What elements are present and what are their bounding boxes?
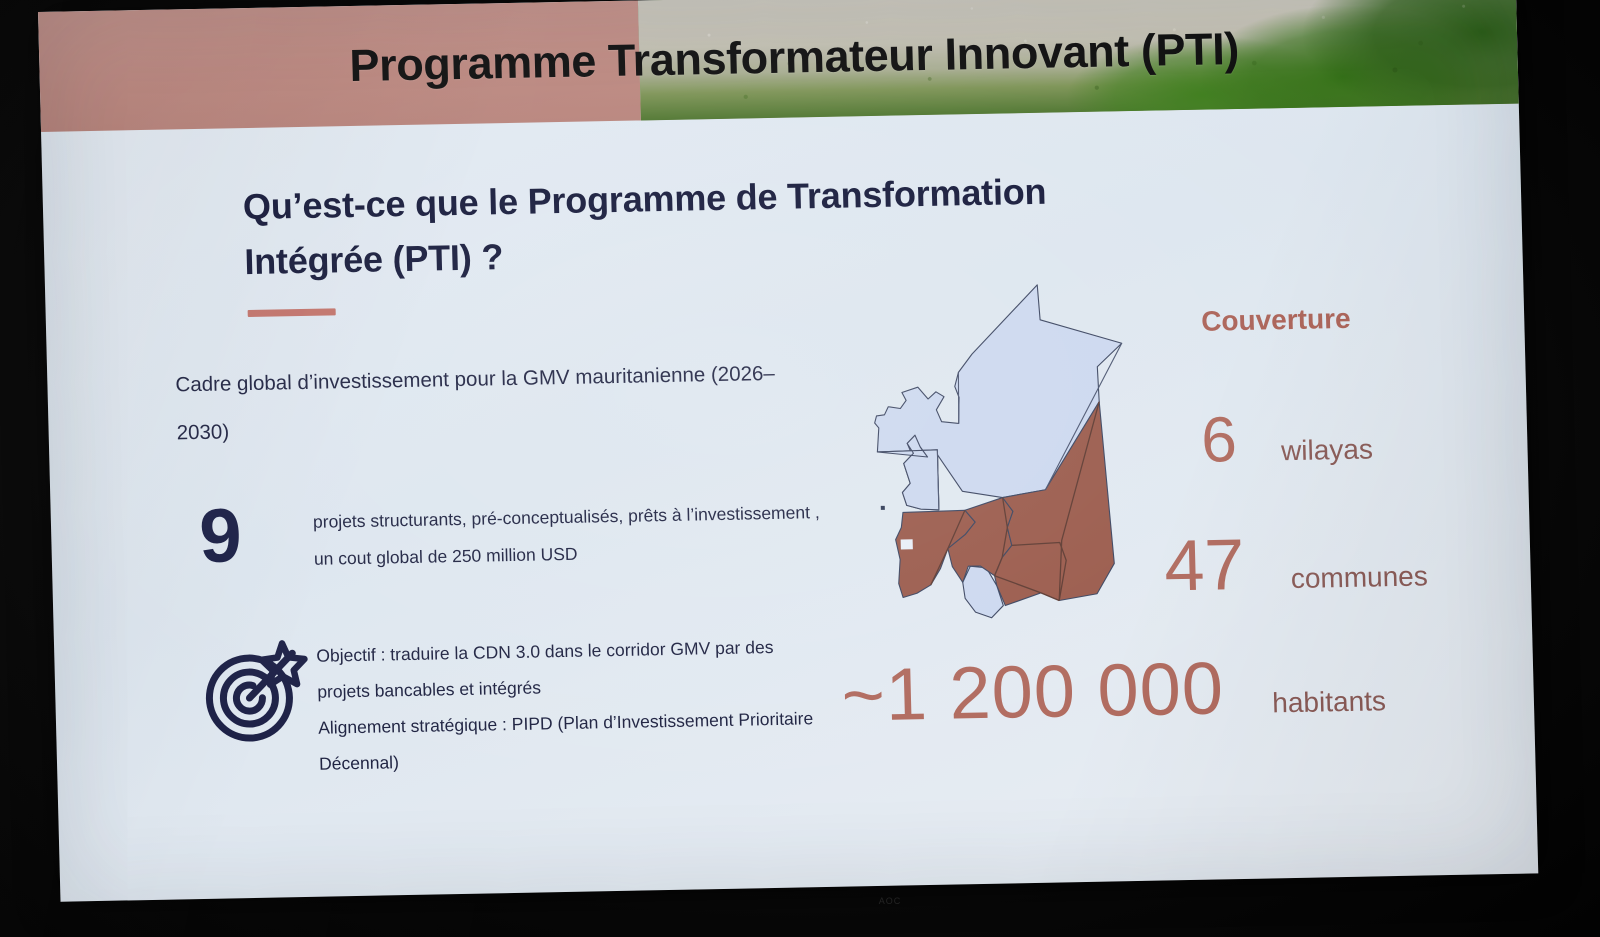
slide-surface: Programme Transformateur Innovant (PTI) …: [38, 0, 1538, 902]
coverage-row-communes: 47 communes: [1163, 525, 1428, 602]
objective-line-1: Objectif : traduire la CDN 3.0 dans le c…: [316, 629, 818, 710]
title-accent-rule: [248, 308, 336, 317]
coverage-heading: Couverture: [1201, 303, 1351, 338]
mauritania-map: [837, 263, 1146, 629]
coverage-row-habitants: ~1 200 000 habitants: [841, 648, 1387, 732]
coverage-row-wilayas: 6 wilayas: [1200, 404, 1373, 471]
slide: Programme Transformateur Innovant (PTI) …: [38, 0, 1538, 902]
intro-paragraph: Cadre global d’investissement pour la GM…: [175, 349, 817, 458]
objective-line-2: Alignement stratégique : PIPD (Plan d’In…: [318, 701, 820, 782]
monitor-brand-logo: AOC: [845, 896, 935, 910]
stat-projects-value: 9: [198, 497, 300, 575]
target-icon: [196, 629, 315, 747]
map-coastal-marker: [881, 506, 885, 510]
coverage-communes-label: communes: [1290, 562, 1428, 593]
coverage-habitants-value: ~1 200 000: [841, 651, 1225, 732]
coverage-habitants-label: habitants: [1272, 687, 1386, 717]
coverage-communes-value: 47: [1163, 529, 1245, 603]
coverage-wilayas-value: 6: [1200, 407, 1237, 472]
stat-projects-description: projets structurants, pré-conceptualisés…: [313, 494, 825, 577]
objective-text: Objectif : traduire la CDN 3.0 dans le c…: [316, 629, 820, 782]
coverage-wilayas-label: wilayas: [1281, 435, 1374, 465]
photo-of-projected-slide: Programme Transformateur Innovant (PTI) …: [0, 0, 1600, 937]
map-nouakchott-marker: [901, 539, 913, 549]
